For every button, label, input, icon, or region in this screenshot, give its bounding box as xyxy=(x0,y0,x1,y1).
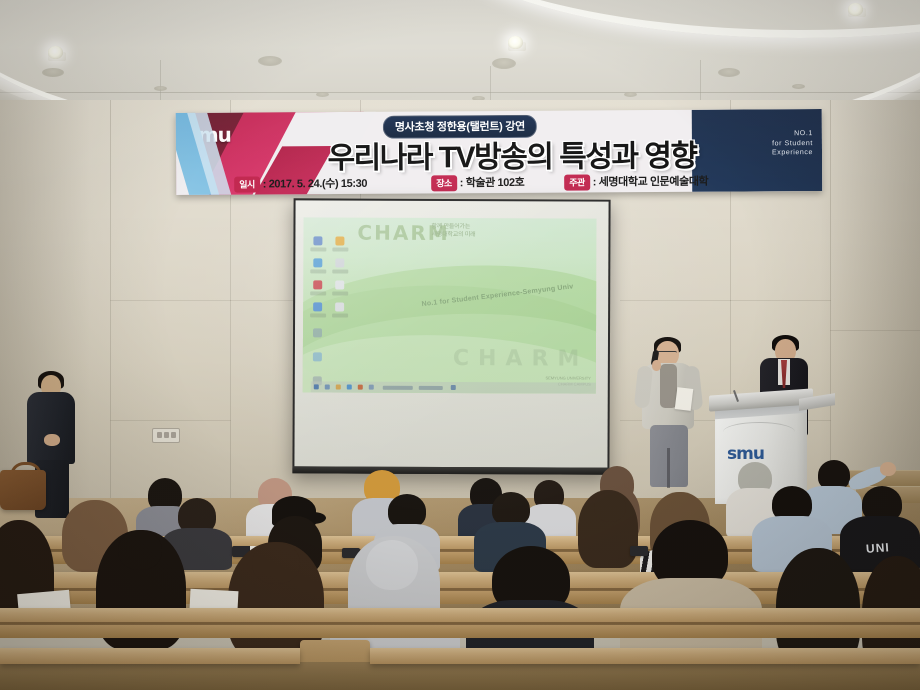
tool-icon[interactable] xyxy=(313,328,322,337)
browser-icon[interactable] xyxy=(313,258,322,267)
event-banner: smu NO.1 for Student Experience 명사초청 정한용… xyxy=(176,109,822,195)
head xyxy=(366,540,418,590)
lecture-hall-photo: smu NO.1 for Student Experience 명사초청 정한용… xyxy=(0,0,920,690)
ceiling-vent xyxy=(492,58,516,69)
banner-info-value-host: : 세명대학교 인문예술대학 xyxy=(593,176,709,189)
folder-icon[interactable] xyxy=(335,236,344,245)
shirt-text: UNI xyxy=(866,540,891,556)
head-hair xyxy=(492,492,530,526)
media-icon[interactable] xyxy=(313,280,322,289)
speaker-notes xyxy=(675,387,694,411)
speaker-hand xyxy=(652,360,661,371)
tray-icon[interactable] xyxy=(451,385,456,390)
tagline-line-1: NO.1 xyxy=(772,129,813,139)
ceiling-spotlight xyxy=(508,36,523,49)
network-icon[interactable] xyxy=(313,352,322,361)
charm-sub-line-2: 세명대학교의 미래 xyxy=(431,231,475,239)
window-icon[interactable] xyxy=(369,385,374,390)
head-hair xyxy=(388,494,426,528)
taskbar[interactable] xyxy=(311,381,597,393)
tagline-line-3: Experience xyxy=(772,148,813,158)
banner-info-value-place: : 학술관 102호 xyxy=(460,177,525,189)
wall-outlet xyxy=(152,428,180,443)
ceiling-vent xyxy=(316,92,329,97)
projection-screen: CHARM 함께 만들어가는 세명대학교의 미래 No.1 for Studen… xyxy=(292,198,610,474)
banner-info-label-host: 주관 xyxy=(564,175,590,191)
head xyxy=(252,542,300,584)
floor-riser xyxy=(0,662,920,690)
ceiling-vent xyxy=(624,92,637,97)
presentation-icon[interactable] xyxy=(358,385,363,390)
banner-tagline: NO.1 for Student Experience xyxy=(772,129,813,158)
head xyxy=(80,502,112,532)
staff-suit xyxy=(27,392,75,464)
banner-info-value-date: : 2017. 5. 24.(수) 15:30 xyxy=(263,178,367,191)
glasses-icon xyxy=(657,351,677,357)
search-icon[interactable] xyxy=(325,384,330,389)
podium-smu-logo: smu xyxy=(727,444,764,464)
head xyxy=(118,530,162,570)
start-button[interactable] xyxy=(314,384,319,389)
charm-brand-subtext: 함께 만들어가는 세명대학교의 미래 xyxy=(431,223,475,239)
ceiling-vent xyxy=(792,84,805,89)
tagline-line-2: for Student xyxy=(772,139,813,149)
ceiling-vent xyxy=(154,86,167,91)
phone-on-desk xyxy=(630,546,648,556)
ceiling-spotlight xyxy=(48,46,63,59)
banner-info-row: 일시: 2017. 5. 24.(수) 15:30 장소: 학술관 102호 주… xyxy=(176,169,822,195)
ceiling-spotlight xyxy=(848,3,863,16)
archive-icon[interactable] xyxy=(335,302,344,311)
explorer-icon[interactable] xyxy=(336,384,341,389)
wallpaper-watermark: CHARM xyxy=(453,346,589,372)
text-file-icon[interactable] xyxy=(335,280,344,289)
document-icon[interactable] xyxy=(335,258,344,267)
banner-info-label-date: 일시 xyxy=(234,177,260,193)
speaker-shirt xyxy=(660,364,677,408)
desk-row-4 xyxy=(370,648,920,664)
ceiling-vent xyxy=(718,68,740,77)
banner-info-label-place: 장소 xyxy=(431,175,457,191)
desk-row-4 xyxy=(0,648,300,664)
hand xyxy=(880,462,896,476)
computer-icon[interactable] xyxy=(313,236,322,245)
projection-surface: CHARM 함께 만들어가는 세명대학교의 미래 No.1 for Studen… xyxy=(294,200,608,467)
head xyxy=(594,492,626,522)
ceiling-vent xyxy=(42,68,64,77)
staff-hands xyxy=(44,434,60,446)
browser-taskbar-icon[interactable] xyxy=(347,385,352,390)
projected-desktop: CHARM 함께 만들어가는 세명대학교의 미래 No.1 for Studen… xyxy=(303,217,597,393)
charm-sub-line-1: 함께 만들어가는 xyxy=(431,223,475,231)
app-icon[interactable] xyxy=(313,302,322,311)
leather-bag xyxy=(0,470,46,510)
ceiling-vent xyxy=(258,56,282,66)
